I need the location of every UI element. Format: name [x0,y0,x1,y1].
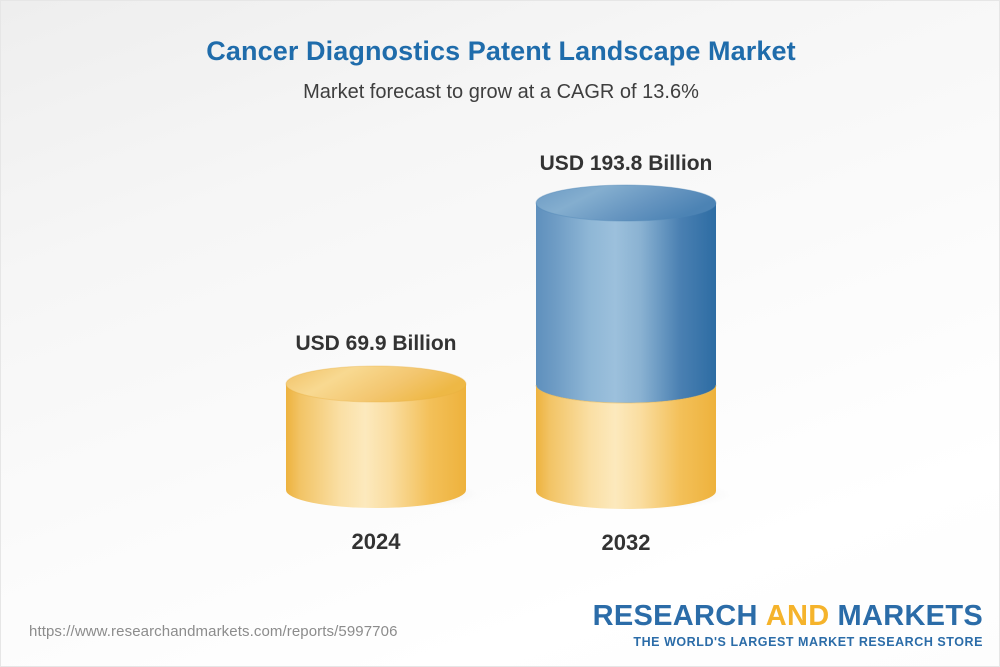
chart-plot-area: USD 69.9 Billion [1,1,1000,667]
market-infographic: Cancer Diagnostics Patent Landscape Mark… [0,0,1000,667]
brand-logo[interactable]: RESEARCHANDMARKETS THE WORLD'S LARGEST M… [593,602,983,649]
category-label-2032: 2032 [506,530,746,556]
cylinder-2032-graphic [536,187,716,509]
value-label-2032: USD 193.8 Billion [506,151,746,176]
logo-research-text: RESEARCH [593,600,758,632]
logo-and-text: AND [766,600,830,632]
logo-wordmark: RESEARCHANDMARKETS [593,602,983,631]
logo-markets-text: MARKETS [838,600,984,632]
logo-tagline: THE WORLD'S LARGEST MARKET RESEARCH STOR… [593,636,983,649]
cylinder-2032 [536,187,716,509]
value-label-2024: USD 69.9 Billion [256,331,496,356]
chart-column-2024: USD 69.9 Billion [256,331,496,556]
category-label-2024: 2024 [256,529,496,555]
source-url[interactable]: https://www.researchandmarkets.com/repor… [29,623,398,640]
chart-column-2032: USD 193.8 Billion [506,151,746,557]
cylinder-2024 [286,368,466,508]
cylinder-2024-graphic [286,368,466,508]
